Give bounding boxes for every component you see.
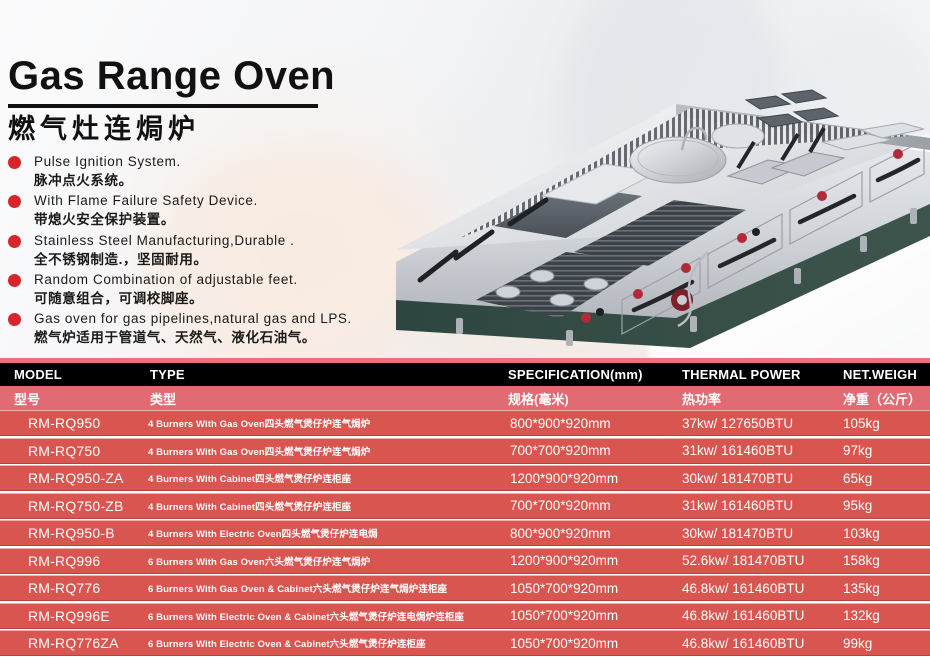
product-illustration xyxy=(390,0,930,360)
cell-spec: 1050*700*920mm xyxy=(500,581,680,596)
page-title: Gas Range Oven xyxy=(8,56,335,96)
list-item: Gas oven for gas pipelines,natural gas a… xyxy=(8,309,400,347)
cell-power: 46.8kw/ 161460BTU xyxy=(680,608,835,623)
cell-model: RM-RQ950 xyxy=(0,415,140,431)
cell-spec: 700*700*920mm xyxy=(500,443,680,458)
cell-model: RM-RQ950-ZA xyxy=(0,470,140,486)
table-row: RM-RQ776 6 Burners With Gas Oven & Cabin… xyxy=(0,575,930,601)
cell-weight: 158kg xyxy=(835,553,930,568)
bullet-dot-icon xyxy=(8,156,21,169)
cell-weight: 65kg xyxy=(835,471,930,486)
feature-text-cn: 燃气炉适用于管道气、天然气、液化石油气。 xyxy=(34,328,400,347)
feature-text-en: Random Combination of adjustable feet. xyxy=(34,270,400,289)
list-item: Stainless Steel Manufacturing,Durable . … xyxy=(8,231,400,269)
cell-type: 6 Burners With Electric Oven & Cabinet六头… xyxy=(140,609,500,623)
cell-power: 46.8kw/ 161460BTU xyxy=(680,581,835,596)
cell-weight: 135kg xyxy=(835,581,930,596)
cell-power: 30kw/ 181470BTU xyxy=(680,471,835,486)
feature-text-en: Stainless Steel Manufacturing,Durable . xyxy=(34,231,400,250)
table-row: RM-RQ776ZA 6 Burners With Electric Oven … xyxy=(0,630,930,656)
cell-type: 4 Burners With Cabinet四头燃气煲仔炉连柜座 xyxy=(140,499,500,513)
table-row: RM-RQ950-B 4 Burners With Electric Oven四… xyxy=(0,520,930,546)
cell-spec: 1050*700*920mm xyxy=(500,608,680,623)
cell-power: 30kw/ 181470BTU xyxy=(680,526,835,541)
table-row: RM-RQ750 4 Burners With Gas Oven四头燃气煲仔炉连… xyxy=(0,438,930,464)
cell-type: 4 Burners With Electric Oven四头燃气煲仔炉连电焗 xyxy=(140,526,500,540)
solid-top-hob xyxy=(712,124,764,148)
feature-text-en: Pulse Ignition System. xyxy=(34,152,400,171)
cell-spec: 1200*900*920mm xyxy=(500,553,680,568)
table-row: RM-RQ996 6 Burners With Gas Oven六头燃气煲仔炉连… xyxy=(0,548,930,574)
cell-weight: 132kg xyxy=(835,608,930,623)
column-header-model-en: MODEL xyxy=(0,367,140,382)
cell-model: RM-RQ996E xyxy=(0,608,140,624)
column-header-type-cn: 类型 xyxy=(140,389,500,408)
title-underline xyxy=(8,104,318,108)
table-row: RM-RQ750-ZB 4 Burners With Cabinet四头燃气煲仔… xyxy=(0,493,930,519)
cell-model: RM-RQ750 xyxy=(0,443,140,459)
cell-model: RM-RQ750-ZB xyxy=(0,498,140,514)
column-header-model-cn: 型号 xyxy=(0,389,140,408)
cell-weight: 105kg xyxy=(835,416,930,431)
list-item: With Flame Failure Safety Device. 带熄火安全保… xyxy=(8,191,400,229)
cell-type: 6 Burners With Gas Oven & Cabinet六头燃气煲仔炉… xyxy=(140,581,500,595)
list-item: Random Combination of adjustable feet. 可… xyxy=(8,270,400,308)
cell-type: 6 Burners With Electric Oven & Cabinet六头… xyxy=(140,636,500,650)
cell-model: RM-RQ776 xyxy=(0,580,140,596)
page-subtitle-cn: 燃气灶连焗炉 xyxy=(8,114,200,145)
feature-text-cn: 脉冲点火系统。 xyxy=(34,171,400,190)
cell-weight: 103kg xyxy=(835,526,930,541)
list-item: Pulse Ignition System. 脉冲点火系统。 xyxy=(8,152,400,190)
cell-power: 46.8kw/ 161460BTU xyxy=(680,636,835,651)
cell-spec: 1200*900*920mm xyxy=(500,471,680,486)
feature-list: Pulse Ignition System. 脉冲点火系统。 With Flam… xyxy=(8,152,400,349)
cell-power: 52.6kw/ 181470BTU xyxy=(680,553,835,568)
cell-weight: 95kg xyxy=(835,498,930,513)
product-photo xyxy=(390,0,930,360)
feature-text-en: Gas oven for gas pipelines,natural gas a… xyxy=(34,309,400,328)
bullet-dot-icon xyxy=(8,235,21,248)
column-header-weight-en: NET.WEIGH xyxy=(835,367,930,382)
table-row: RM-RQ950 4 Burners With Gas Oven四头燃气煲仔炉连… xyxy=(0,410,930,436)
cell-model: RM-RQ950-B xyxy=(0,525,140,541)
column-header-power-cn: 热功率 xyxy=(680,389,835,408)
cell-type: 4 Burners With Gas Oven四头燃气煲仔炉连气焗炉 xyxy=(140,416,500,430)
feature-text-en: With Flame Failure Safety Device. xyxy=(34,191,400,210)
feature-text-cn: 可随意组合，可调校脚座。 xyxy=(34,289,400,308)
cell-type: 4 Burners With Gas Oven四头燃气煲仔炉连气焗炉 xyxy=(140,444,500,458)
column-header-weight-cn: 净重（公斤） xyxy=(835,389,930,408)
table-row: RM-RQ950-ZA 4 Burners With Cabinet四头燃气煲仔… xyxy=(0,465,930,491)
cell-power: 31kw/ 161460BTU xyxy=(680,498,835,513)
cell-weight: 99kg xyxy=(835,636,930,651)
cell-spec: 800*900*920mm xyxy=(500,526,680,541)
feature-text-cn: 全不锈钢制造.，坚固耐用。 xyxy=(34,250,400,269)
cell-model: RM-RQ996 xyxy=(0,553,140,569)
column-header-type-en: TYPE xyxy=(140,367,500,382)
cell-weight: 97kg xyxy=(835,443,930,458)
cell-spec: 1050*700*920mm xyxy=(500,636,680,651)
bullet-dot-icon xyxy=(8,274,21,287)
product-intro-panel: Gas Range Oven 燃气灶连焗炉 Pulse Ignition Sys… xyxy=(0,0,400,360)
specification-table: MODEL TYPE SPECIFICATION(mm) THERMAL POW… xyxy=(0,358,930,658)
bullet-dot-icon xyxy=(8,195,21,208)
bullet-dot-icon xyxy=(8,313,21,326)
cell-spec: 800*900*920mm xyxy=(500,416,680,431)
table-row: RM-RQ996E 6 Burners With Electric Oven &… xyxy=(0,603,930,629)
column-header-spec-en: SPECIFICATION(mm) xyxy=(500,367,680,382)
table-header-row-en: MODEL TYPE SPECIFICATION(mm) THERMAL POW… xyxy=(0,363,930,386)
column-header-power-en: THERMAL POWER xyxy=(680,367,835,382)
column-header-spec-cn: 规格(毫米) xyxy=(500,389,680,408)
cell-model: RM-RQ776ZA xyxy=(0,635,140,651)
cell-power: 37kw/ 127650BTU xyxy=(680,416,835,431)
cell-type: 4 Burners With Cabinet四头燃气煲仔炉连柜座 xyxy=(140,471,500,485)
cell-power: 31kw/ 161460BTU xyxy=(680,443,835,458)
feature-text-cn: 带熄火安全保护装置。 xyxy=(34,210,400,229)
table-header-row-cn: 型号 类型 规格(毫米) 热功率 净重（公斤） xyxy=(0,386,930,410)
cell-type: 6 Burners With Gas Oven六头燃气煲仔炉连气焗炉 xyxy=(140,554,500,568)
cell-spec: 700*700*920mm xyxy=(500,498,680,513)
